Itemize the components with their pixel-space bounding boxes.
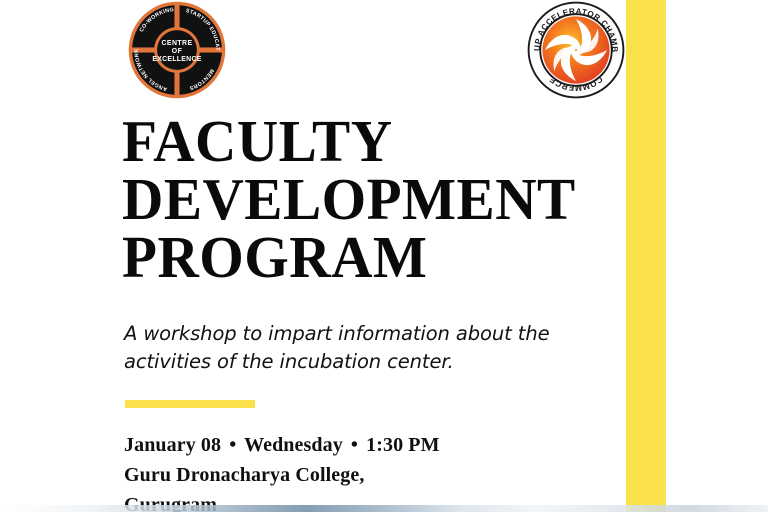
coe-center-line-1: CENTRE — [161, 40, 192, 47]
poster-subtitle: A workshop to impart information about t… — [124, 320, 564, 376]
centre-of-excellence-logo: CENTRE OF EXCELLENCE STARTUP EDUCATION M… — [118, 0, 236, 100]
separator-bullet-1: • — [226, 434, 239, 456]
coe-center-line-3: EXCELLENCE — [152, 56, 201, 63]
poster-canvas: CENTRE OF EXCELLENCE STARTUP EDUCATION M… — [0, 0, 768, 512]
event-time: 1:30 PM — [366, 434, 439, 456]
poster-headline: FACULTY DEVELOPMENT PROGRAM — [122, 112, 592, 286]
headline-line-3: PROGRAM — [122, 228, 578, 286]
event-datetime-line: January 08 • Wednesday • 1:30 PM — [124, 430, 544, 460]
separator-bullet-2: • — [348, 434, 361, 456]
bottom-cropped-image-band — [0, 505, 768, 512]
event-day: Wednesday — [244, 434, 343, 456]
headline-line-1: FACULTY — [122, 112, 578, 170]
coe-center-line-2: OF — [172, 48, 182, 55]
event-date: January 08 — [124, 434, 221, 456]
yellow-accent-bar — [125, 400, 255, 408]
event-details: January 08 • Wednesday • 1:30 PM Guru Dr… — [124, 430, 544, 512]
headline-line-2: DEVELOPMENT — [122, 170, 578, 228]
startup-accelerator-chamber-of-commerce-logo: STARTUP ACCELERATOR CHAMBER OF COMMERCE — [518, 0, 634, 100]
event-venue-line-1: Guru Dronacharya College, — [124, 460, 544, 490]
